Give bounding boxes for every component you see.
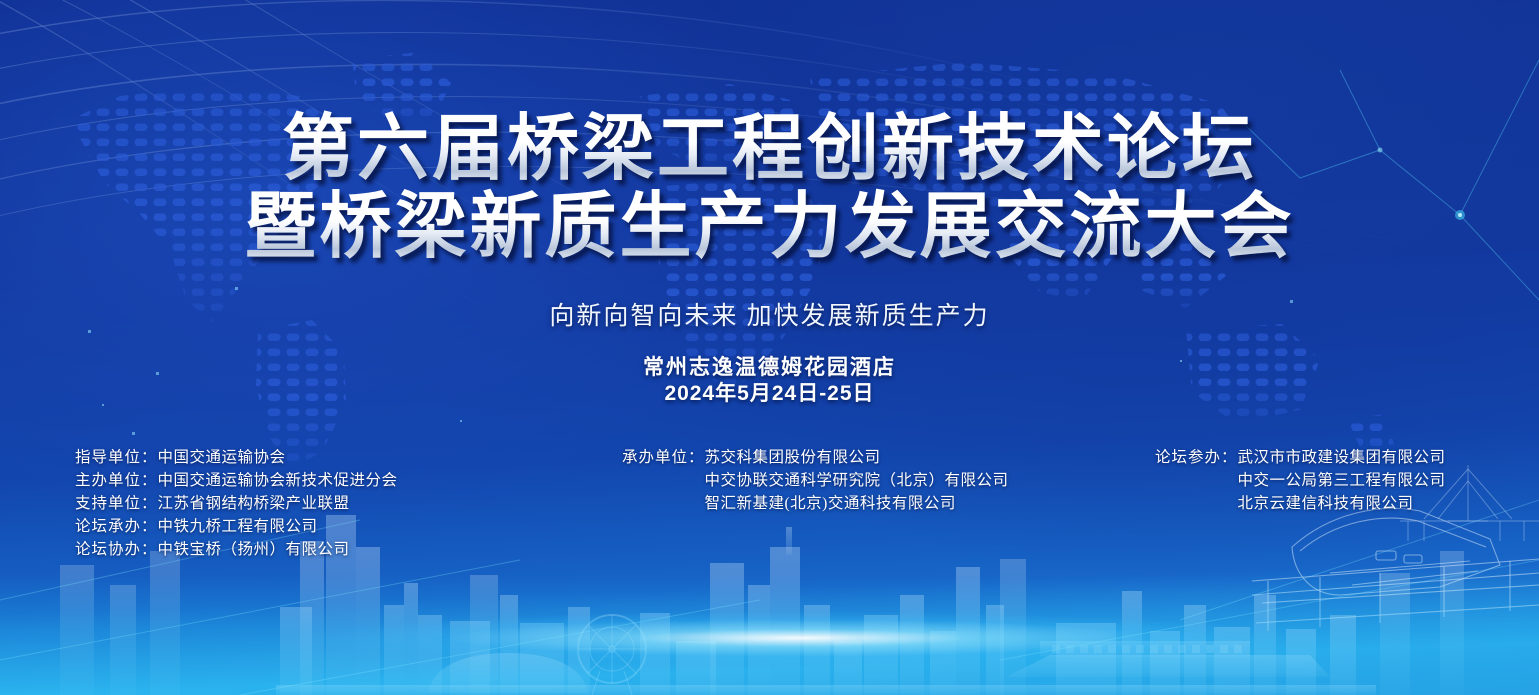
organizer-row: 论坛参办：中交一公局第三工程有限公司 [1155,469,1446,492]
organizer-value: 北京云建信科技有限公司 [1238,492,1414,515]
poster-title: 第六届桥梁工程创新技术论坛 暨桥梁新质生产力发展交流大会 [0,110,1539,266]
organizer-column-left: 指导单位：中国交通运输协会 主办单位：中国交通运输协会新技术促进分会 支持单位：… [75,446,398,561]
venue-and-date: 常州志逸温德姆花园酒店 2024年5月24日-25日 [0,354,1539,407]
poster-slogan: 向新向智向未来 加快发展新质生产力 [0,296,1539,332]
conference-banner: 第六届桥梁工程创新技术论坛 暨桥梁新质生产力发展交流大会 向新向智向未来 加快发… [0,0,1539,695]
organizer-label: 论坛参办： [1155,446,1238,469]
organizer-value: 苏交科集团股份有限公司 [705,446,881,469]
organizer-row: 承办单位：中交协联交通科学研究院（北京）有限公司 [622,469,1009,492]
venue-name: 常州志逸温德姆花园酒店 [0,354,1539,381]
organizer-label: 支持单位： [75,492,158,515]
organizer-label: 主办单位： [75,469,158,492]
organizer-value: 智汇新基建(北京)交通科技有限公司 [705,492,956,515]
organizer-label: 指导单位： [75,446,158,469]
organizer-value: 中国交通运输协会新技术促进分会 [158,469,398,492]
organizer-row: 支持单位：江苏省钢结构桥梁产业联盟 [75,492,398,515]
organizer-label: 论坛协办： [75,538,158,561]
event-dates: 2024年5月24日-25日 [0,381,1539,407]
organizer-row: 论坛参办：北京云建信科技有限公司 [1155,492,1446,515]
title-line-1: 第六届桥梁工程创新技术论坛 [0,110,1539,188]
organizer-value: 中交一公局第三工程有限公司 [1238,469,1446,492]
organizer-value: 中铁宝桥（扬州）有限公司 [158,538,350,561]
organizer-row: 论坛参办：武汉市市政建设集团有限公司 [1155,446,1446,469]
organizer-value: 中交协联交通科学研究院（北京）有限公司 [705,469,1009,492]
organizer-row: 承办单位：智汇新基建(北京)交通科技有限公司 [622,492,1009,515]
organizer-label: 论坛承办： [75,515,158,538]
organizer-value: 江苏省钢结构桥梁产业联盟 [158,492,350,515]
organizer-row: 论坛承办：中铁九桥工程有限公司 [75,515,398,538]
organizer-row: 主办单位：中国交通运输协会新技术促进分会 [75,469,398,492]
title-line-2: 暨桥梁新质生产力发展交流大会 [0,188,1539,266]
organizer-row: 承办单位：苏交科集团股份有限公司 [622,446,1009,469]
organizer-column-middle: 承办单位：苏交科集团股份有限公司 承办单位：中交协联交通科学研究院（北京）有限公… [622,446,1009,515]
organizer-row: 指导单位：中国交通运输协会 [75,446,398,469]
organizer-value: 武汉市市政建设集团有限公司 [1238,446,1446,469]
organizer-row: 论坛协办：中铁宝桥（扬州）有限公司 [75,538,398,561]
organizer-value: 中铁九桥工程有限公司 [158,515,318,538]
organizer-column-right: 论坛参办：武汉市市政建设集团有限公司 论坛参办：中交一公局第三工程有限公司 论坛… [1155,446,1446,515]
organizer-value: 中国交通运输协会 [158,446,286,469]
organizer-label: 承办单位： [622,446,705,469]
